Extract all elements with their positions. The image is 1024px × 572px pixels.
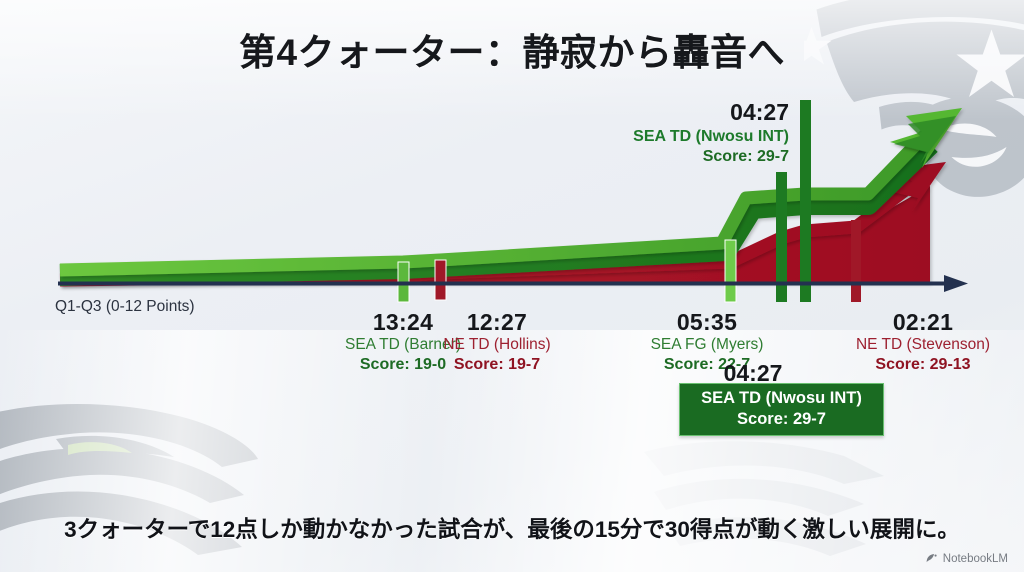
event-time: 05:35	[651, 308, 764, 336]
score-progression-chart	[0, 90, 1024, 320]
marker-bar-1227	[435, 260, 446, 300]
summary-caption: 3クォーターで12点しか動かなかった試合が、最後の15分で30得点が動く激しい展…	[0, 512, 1024, 544]
event-time: 02:21	[856, 308, 990, 336]
callout-box-score: Score: 29-7	[686, 409, 877, 430]
callout-top-score: Score: 29-7	[633, 147, 789, 167]
marker-bar-0221	[851, 220, 861, 302]
event-desc: SEA FG (Myers)	[651, 336, 764, 355]
callout-top-time: 04:27	[633, 98, 789, 127]
callout-top-desc: SEA TD (Nwosu INT)	[633, 127, 789, 147]
event-label-1227: 12:27 NE TD (Hollins) Score: 19-7	[443, 308, 550, 374]
event-label-0221: 02:21 NE TD (Stevenson) Score: 29-13	[856, 308, 990, 374]
event-score: Score: 29-13	[856, 355, 990, 375]
event-time: 12:27	[443, 308, 550, 336]
callout-box-0427: SEA TD (Nwosu INT) Score: 29-7	[679, 383, 884, 436]
page-title: 第4クォーター：静寂から轟音へ	[0, 22, 1024, 76]
axis-caption: Q1-Q3 (0-12 Points)	[55, 298, 195, 316]
event-desc: NE TD (Hollins)	[443, 336, 550, 355]
slide-canvas: 第4クォーター：静寂から轟音へ	[0, 0, 1024, 572]
event-desc: NE TD (Stevenson)	[856, 336, 990, 355]
marker-bar-0535	[725, 240, 736, 302]
event-score: Score: 19-7	[443, 355, 550, 375]
seahawks-logo-secondary	[644, 432, 904, 572]
notebooklm-icon	[925, 552, 938, 565]
notebooklm-watermark: NotebookLM	[925, 552, 1008, 565]
axis-arrowhead	[944, 275, 968, 292]
watermark-label: NotebookLM	[943, 553, 1008, 565]
callout-box-desc: SEA TD (Nwosu INT)	[686, 388, 877, 409]
callout-top-0427: 04:27 SEA TD (Nwosu INT) Score: 29-7	[633, 98, 789, 167]
marker-bar-0427-b	[800, 100, 811, 302]
